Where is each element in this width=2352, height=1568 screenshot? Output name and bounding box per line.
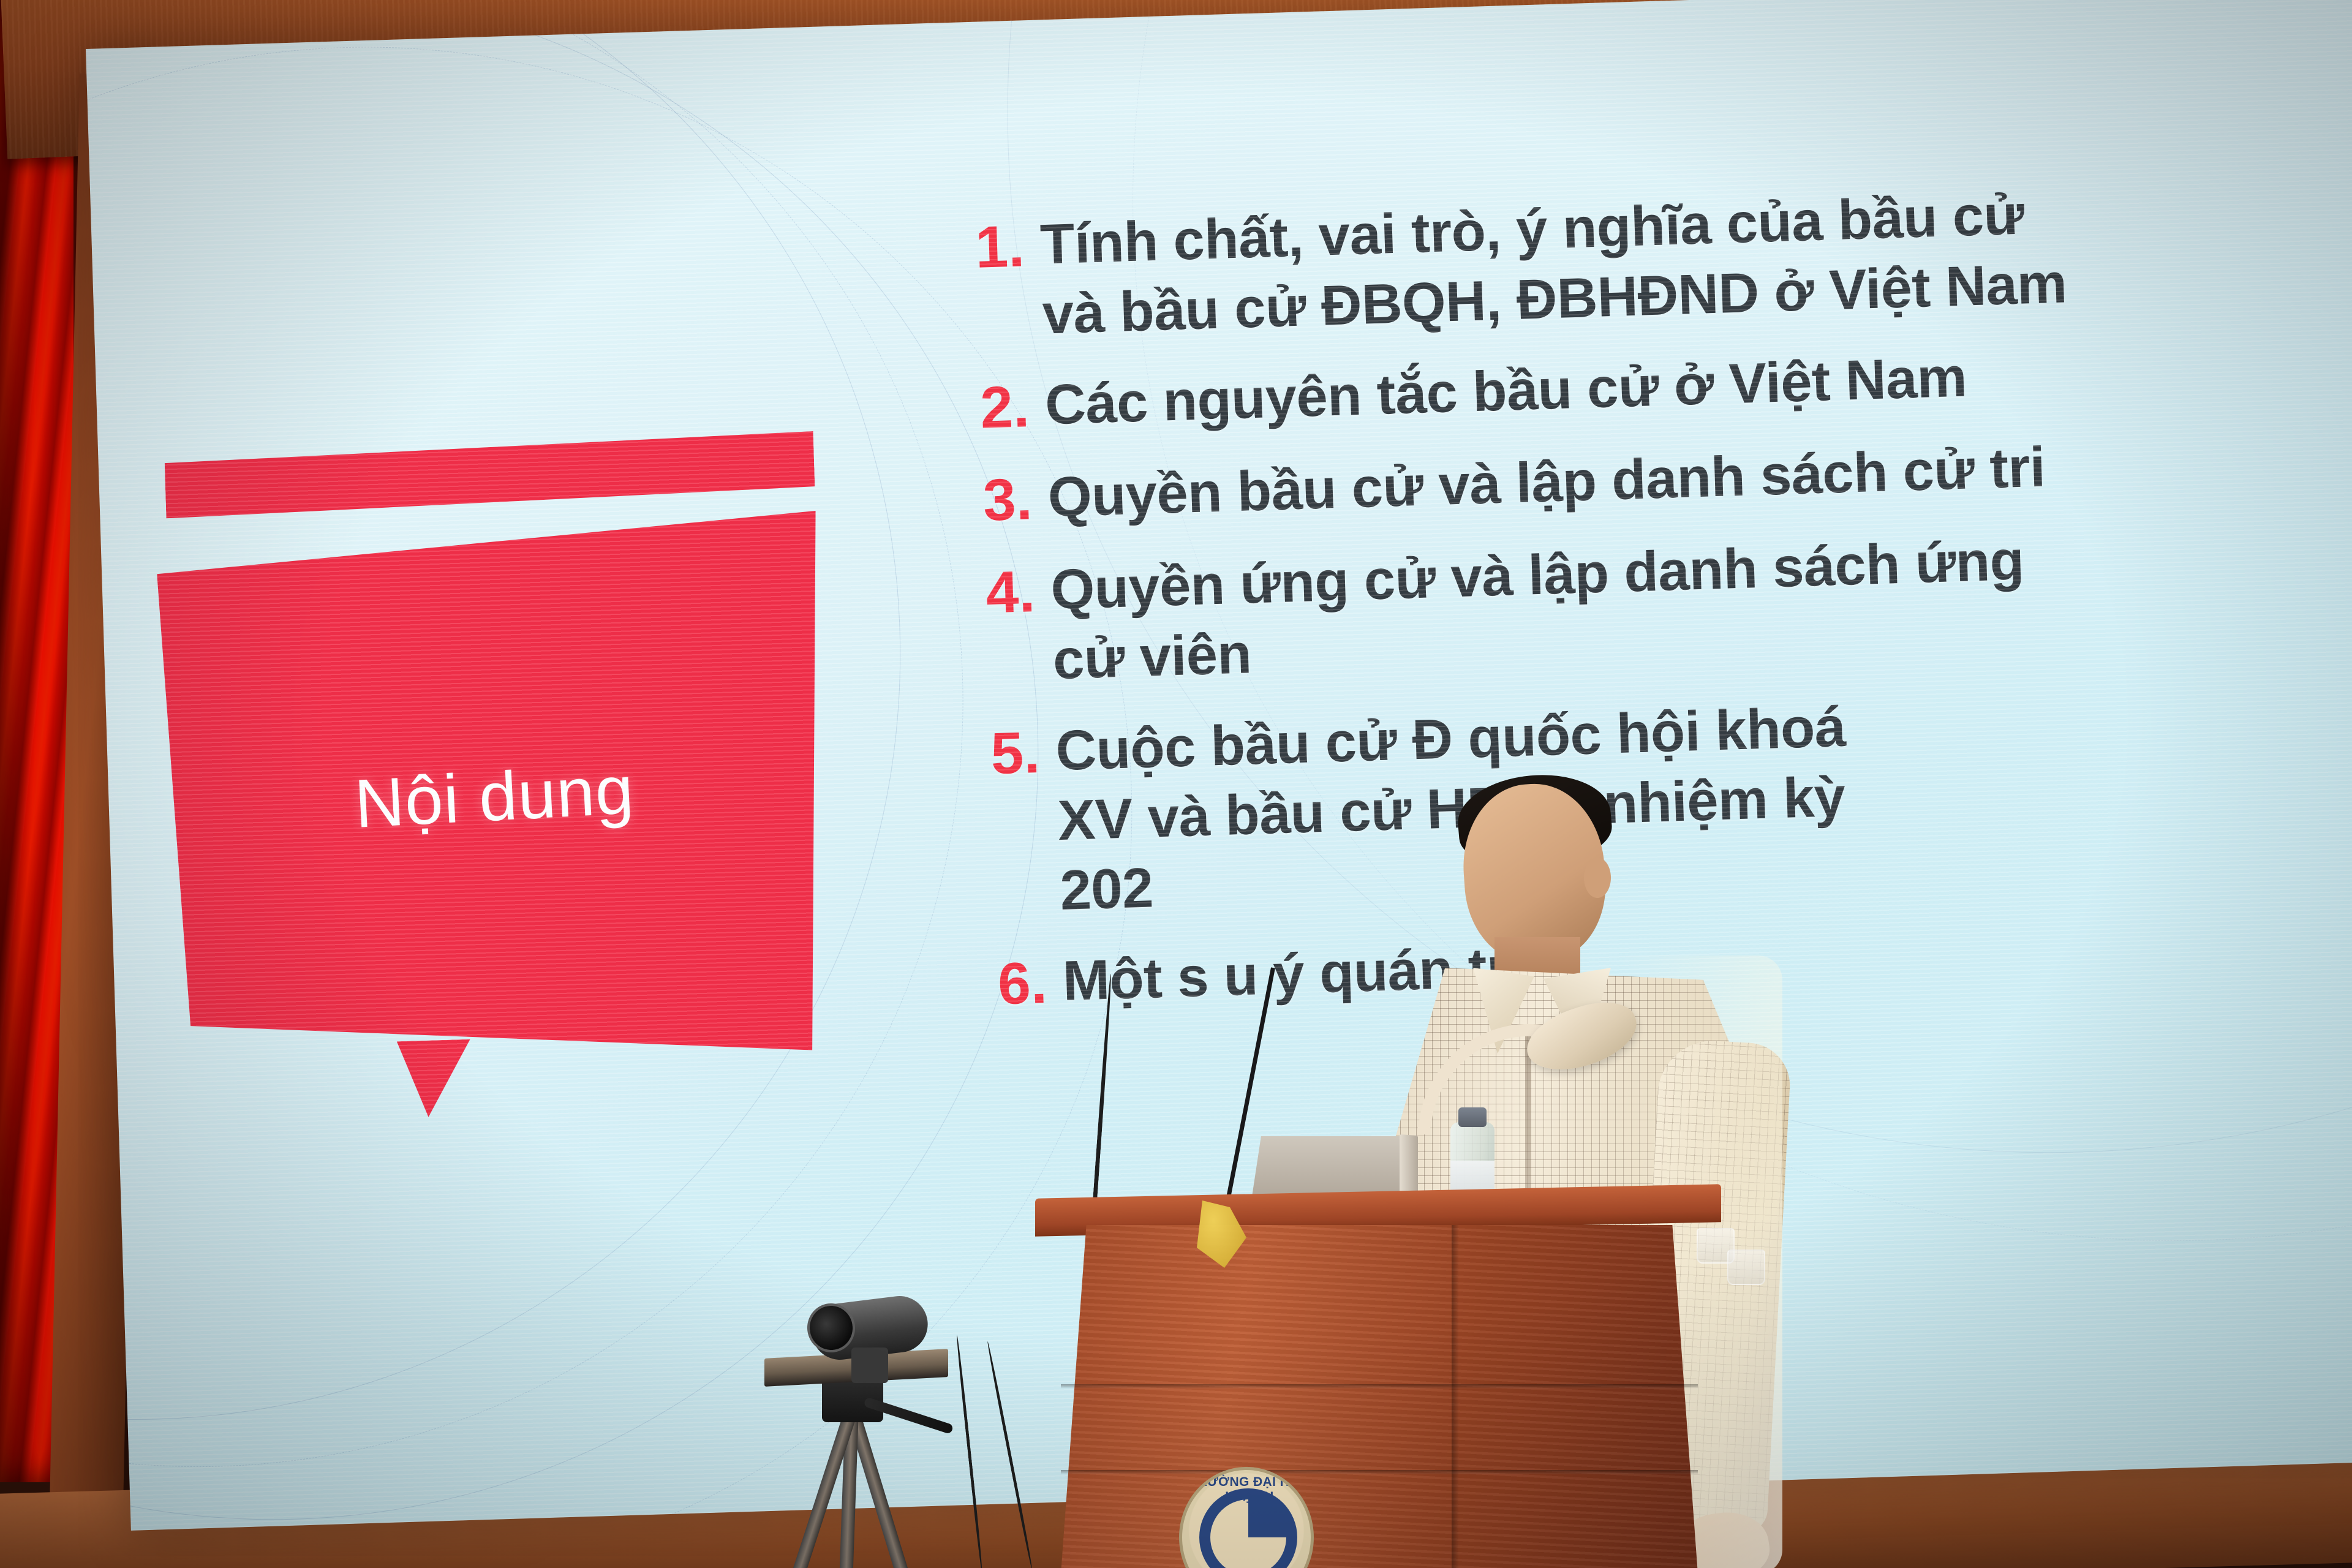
podium-seam [1061, 1384, 1698, 1389]
agenda-line: Quyền bầu cử và lập danh sách cử tri [1047, 432, 2046, 533]
agenda-number: 4. [978, 556, 1036, 629]
camera-mount [851, 1347, 888, 1383]
podium-wood-grain [1061, 1225, 1698, 1568]
water-bottle-cap [1458, 1107, 1487, 1127]
speaker-ear [1584, 858, 1611, 898]
agenda-item: 4. Quyền ứng cử và lập danh sách ứng cử … [978, 513, 2352, 697]
water-bottle-label [1450, 1161, 1494, 1190]
callout-tail [397, 1039, 473, 1118]
presentation-photo: Nội dung 1. Tính chất, vai trò, ý nghĩa … [0, 0, 2352, 1568]
agenda-text: Quyền ứng cử và lập danh sách ứng cử viê… [1050, 526, 2027, 695]
callout-body: Nội dung [156, 511, 832, 1070]
podium-front-panel [1061, 1225, 1698, 1568]
agenda-number: 2. [972, 371, 1031, 444]
wooden-podium: TRƯỜNG ĐẠI HỌC LUẬT H [1035, 1191, 1721, 1568]
emblem-text: TRƯỜNG ĐẠI HỌC LUẬT H [1182, 1475, 1314, 1504]
callout-title: Nội dung [353, 750, 636, 843]
agenda-line: Các nguyên tắc bầu cử ở Việt Nam [1044, 342, 1968, 440]
agenda-number: 1. [967, 210, 1026, 284]
agenda-number: 5. [982, 717, 1041, 790]
camera-tripod [753, 1256, 956, 1568]
noi-dung-callout: Nội dung [153, 431, 861, 1174]
agenda-number: 3. [974, 463, 1033, 537]
podium-corner-edge [1452, 1225, 1459, 1568]
university-emblem: TRƯỜNG ĐẠI HỌC LUẬT H [1179, 1467, 1314, 1568]
podium-seam [1061, 1470, 1698, 1474]
agenda-text: Quyền bầu cử và lập danh sách cử tri [1047, 432, 2046, 533]
agenda-text: Các nguyên tắc bầu cử ở Việt Nam [1044, 342, 1968, 440]
drinking-glass [1727, 1249, 1765, 1285]
agenda-number: 6. [990, 947, 1049, 1020]
